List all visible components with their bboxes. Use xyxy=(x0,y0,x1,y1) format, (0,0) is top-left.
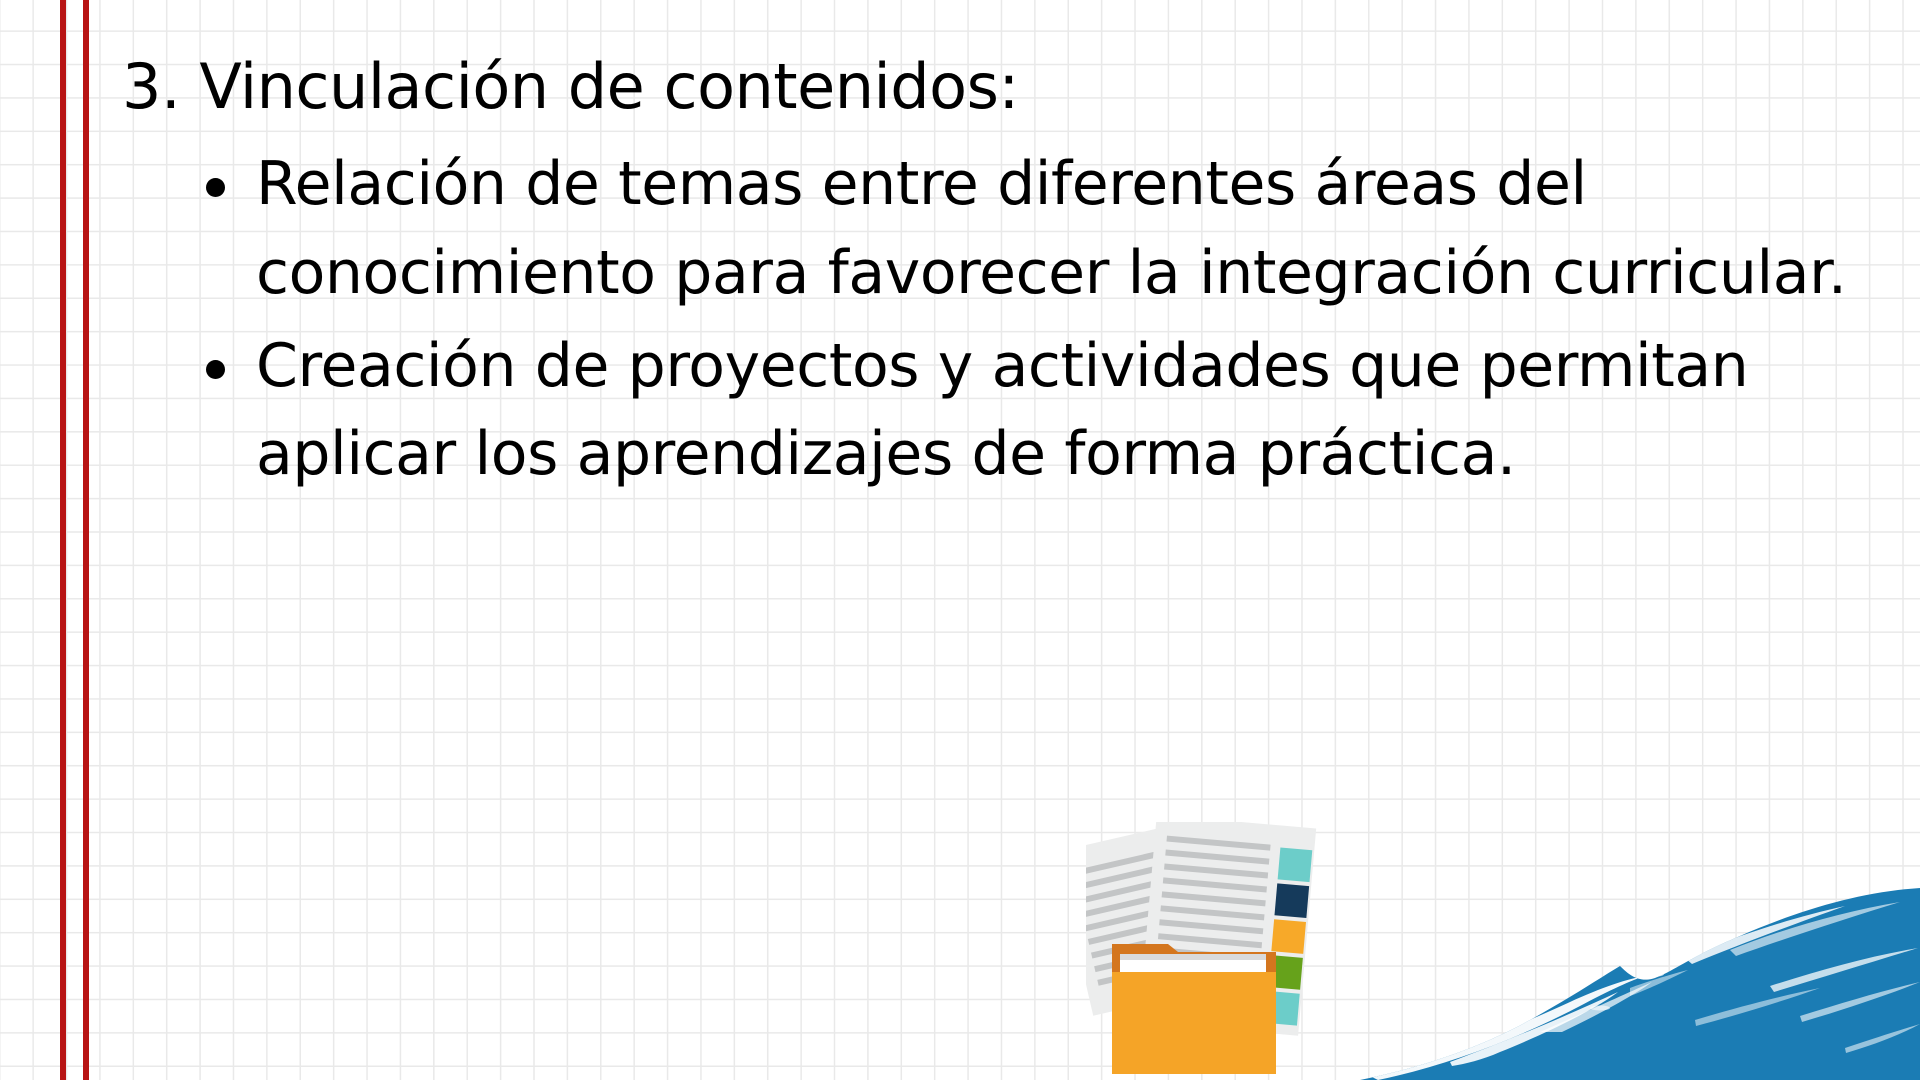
tab-swatch-3 xyxy=(1271,919,1306,954)
tab-swatch-2 xyxy=(1274,883,1309,918)
list-item: Creación de proyectos y actividades que … xyxy=(200,322,1856,500)
red-margin-rule-inner xyxy=(83,0,89,1080)
red-margin-rule-outer xyxy=(60,0,66,1080)
bullet-list: Relación de temas entre diferentes áreas… xyxy=(122,140,1892,499)
slide-canvas: 3. Vinculación de contenidos: Relación d… xyxy=(0,0,1920,1080)
orange-folder xyxy=(1112,944,1276,1074)
page-title: 3. Vinculación de contenidos: xyxy=(122,56,1892,118)
folder-with-documents-illustration xyxy=(1086,822,1386,1080)
list-item: Relación de temas entre diferentes áreas… xyxy=(200,140,1856,318)
slide-text-content: 3. Vinculación de contenidos: Relación d… xyxy=(122,56,1892,503)
tab-swatch-1 xyxy=(1278,848,1313,883)
